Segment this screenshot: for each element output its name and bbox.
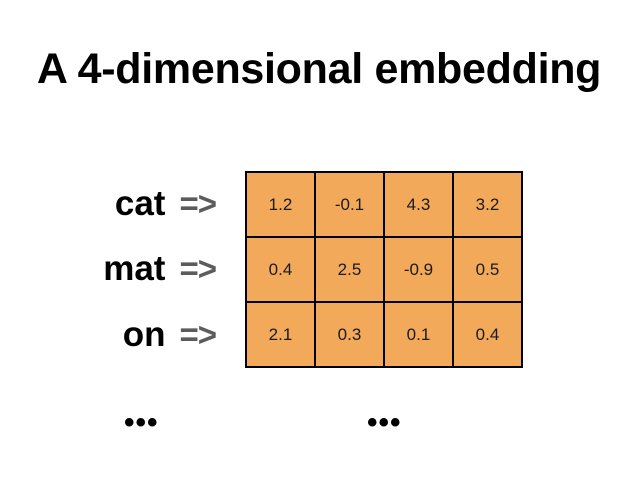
matrix-cell: 0.3 <box>315 302 384 367</box>
matrix-cell: 2.5 <box>315 237 384 302</box>
matrix-cell: 0.4 <box>246 237 315 302</box>
arrow-icon: => <box>179 252 216 285</box>
word-label-cat: cat <box>115 186 166 221</box>
words-ellipsis: ••• <box>124 408 159 438</box>
list-item: cat => <box>52 171 232 236</box>
matrix-cell: 0.4 <box>453 302 522 367</box>
matrix-ellipsis: ••• <box>367 408 402 438</box>
word-label-list: cat => mat => on => <box>52 171 232 367</box>
matrix-cell: 0.1 <box>384 302 453 367</box>
embedding-matrix: 1.2 -0.1 4.3 3.2 0.4 2.5 -0.9 0.5 2.1 0.… <box>245 171 523 368</box>
matrix-cell: 4.3 <box>384 172 453 237</box>
list-item: on => <box>52 302 232 367</box>
word-label-on: on <box>123 317 166 352</box>
slide-canvas: A 4-dimensional embedding cat => mat => … <box>0 0 638 484</box>
table-row: 0.4 2.5 -0.9 0.5 <box>246 237 522 302</box>
matrix-cell: 1.2 <box>246 172 315 237</box>
matrix-cell: 2.1 <box>246 302 315 367</box>
matrix-cell: 0.5 <box>453 237 522 302</box>
matrix-cell: -0.9 <box>384 237 453 302</box>
arrow-icon: => <box>179 318 216 351</box>
list-item: mat => <box>52 236 232 301</box>
table-row: 2.1 0.3 0.1 0.4 <box>246 302 522 367</box>
matrix-cell: 3.2 <box>453 172 522 237</box>
word-label-mat: mat <box>103 251 165 286</box>
arrow-icon: => <box>179 187 216 220</box>
page-title: A 4-dimensional embedding <box>0 46 638 93</box>
matrix-cell: -0.1 <box>315 172 384 237</box>
table-row: 1.2 -0.1 4.3 3.2 <box>246 172 522 237</box>
